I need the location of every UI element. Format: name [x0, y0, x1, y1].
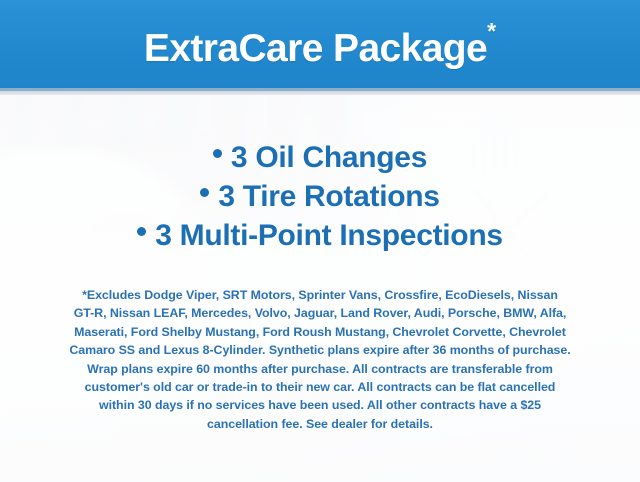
asterisk-marker: *: [487, 18, 496, 44]
disclaimer-line: cancellation fee. See dealer for details…: [30, 415, 610, 433]
disclaimer-line: Maserati, Ford Shelby Mustang, Ford Rous…: [30, 323, 610, 341]
list-item: 3 Multi-Point Inspections: [0, 216, 640, 255]
bullet-dot-icon: [200, 188, 209, 197]
benefit-label-1: 3 Oil Changes: [231, 141, 427, 174]
benefits-list: 3 Oil Changes 3 Tire Rotations 3 Multi-P…: [0, 138, 640, 255]
list-item: 3 Oil Changes: [0, 138, 640, 177]
benefit-label-3: 3 Multi-Point Inspections: [155, 219, 503, 252]
disclaimer-line: Camaro SS and Lexus 8-Cylinder. Syntheti…: [30, 341, 610, 359]
benefit-label-2: 3 Tire Rotations: [218, 180, 439, 213]
page-title: ExtraCare Package*: [144, 20, 496, 68]
header-underline-light: [0, 91, 640, 95]
disclaimer-line: within 30 days if no services have been …: [30, 396, 610, 414]
list-item: 3 Tire Rotations: [0, 177, 640, 216]
disclaimer-line: GT-R, Nissan LEAF, Mercedes, Volvo, Jagu…: [30, 304, 610, 322]
disclaimer-line: customer's old car or trade-in to their …: [30, 378, 610, 396]
extracare-package-ad: ExtraCare Package* 3 Oil Changes 3 Tire …: [0, 0, 640, 482]
page-title-text: ExtraCare Package: [144, 27, 487, 70]
bullet-dot-icon: [213, 149, 222, 158]
disclaimer-line: Wrap plans expire 60 months after purcha…: [30, 360, 610, 378]
header-band: ExtraCare Package*: [0, 0, 640, 88]
disclaimer-line: *Excludes Dodge Viper, SRT Motors, Sprin…: [30, 286, 610, 304]
bullet-dot-icon: [137, 227, 146, 236]
disclaimer-text: *Excludes Dodge Viper, SRT Motors, Sprin…: [30, 286, 610, 433]
